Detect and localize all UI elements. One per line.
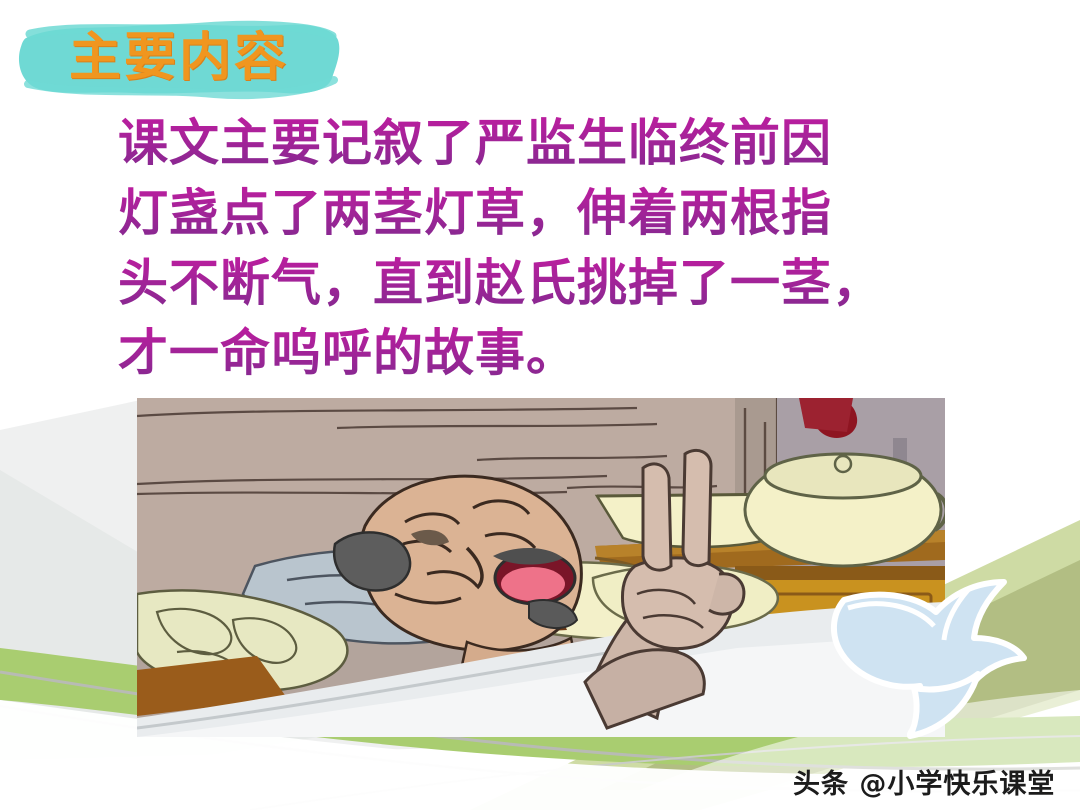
watermark-text: 头条 @小学快乐课堂 <box>793 762 1055 801</box>
body-line: 灯盏点了两茎灯草，伸着两根指 <box>118 178 1018 248</box>
page-title: 主要内容 <box>14 16 344 100</box>
teapot <box>745 454 945 566</box>
title-block: 主要内容 <box>14 16 344 100</box>
body-line: 课文主要记叙了严监生临终前因 <box>118 108 1018 178</box>
body-line: 头不断气，直到赵氏挑掉了一茎， <box>118 248 1018 318</box>
index-finger <box>643 464 671 570</box>
middle-finger <box>683 450 711 565</box>
slide-canvas: 主要内容 课文主要记叙了严监生临终前因 灯盏点了两茎灯草，伸着两根指 头不断气，… <box>0 0 1080 810</box>
body-line: 才一命呜呼的故事。 <box>118 318 1018 388</box>
illustration-image <box>137 398 945 737</box>
body-paragraph: 课文主要记叙了严监生临终前因 灯盏点了两茎灯草，伸着两根指 头不断气，直到赵氏挑… <box>118 108 1018 388</box>
red-wall-ornament-2 <box>799 398 853 432</box>
